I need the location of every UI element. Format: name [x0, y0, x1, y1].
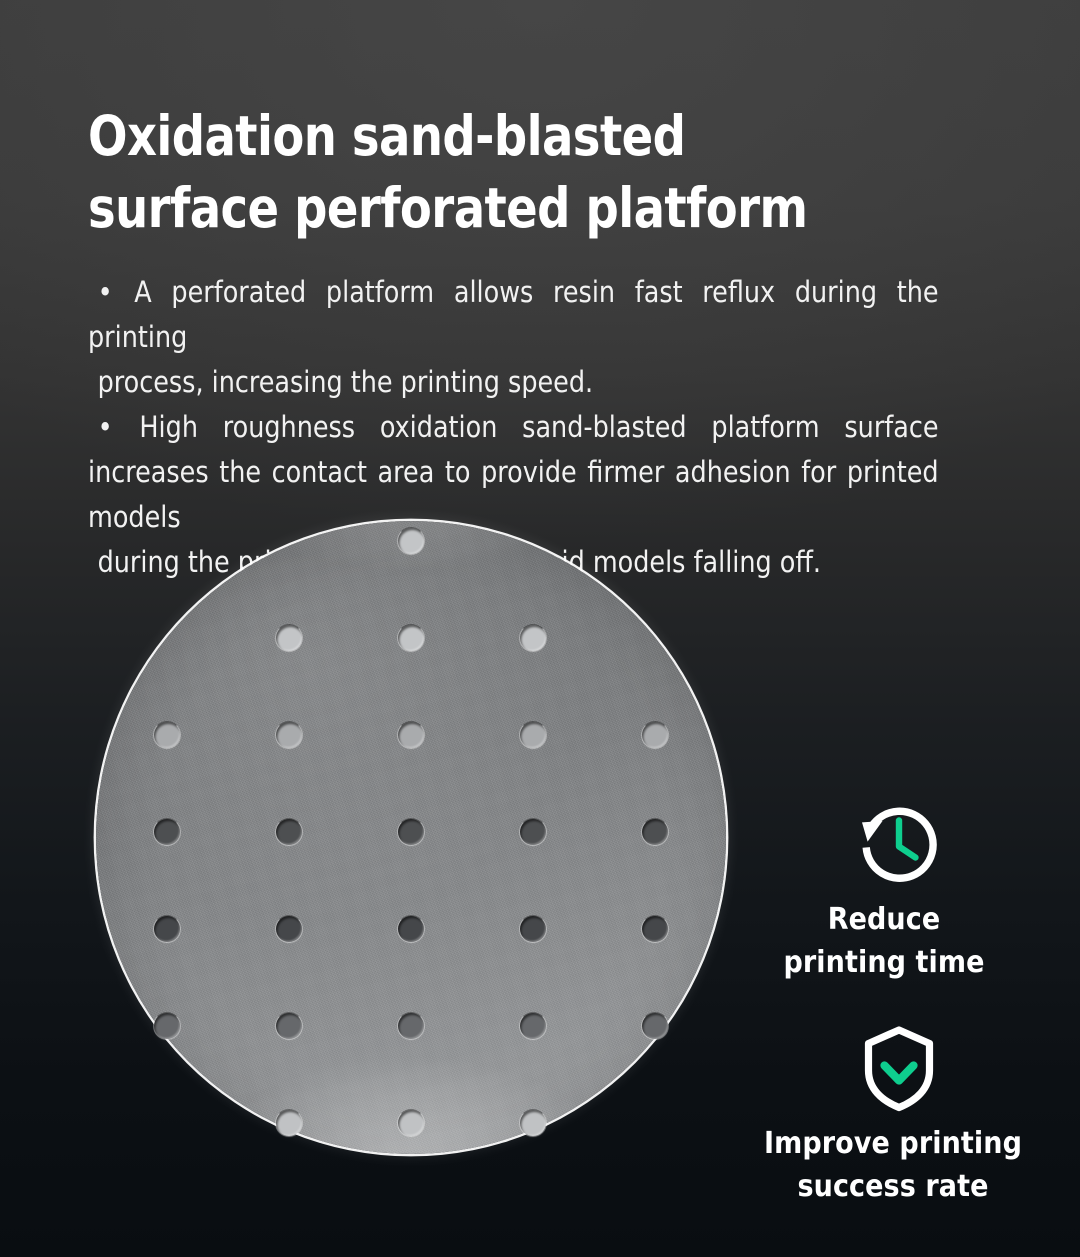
perforation-hole — [276, 916, 302, 942]
clock-rewind-icon — [851, 796, 947, 892]
feature-label: Improve printing success rate — [734, 1122, 1064, 1208]
hole-lip — [275, 624, 303, 652]
hole-lip — [397, 721, 425, 749]
hole-lip — [275, 915, 303, 943]
bullet-item-tail: process, increasing the printing speed. — [88, 360, 939, 405]
bullet-text-tail: process, increasing the printing speed. — [98, 365, 594, 399]
perforation-hole-grid — [96, 521, 726, 1154]
hole-lip — [519, 818, 547, 846]
perforation-hole — [276, 625, 302, 651]
feature-reduce-printing-time: Reduce printing time — [734, 796, 1064, 984]
perforation-hole — [398, 819, 424, 845]
perforation-hole — [398, 1013, 424, 1039]
page-title: Oxidation sand-blasted surface perforate… — [88, 100, 921, 244]
hole-lip — [641, 915, 669, 943]
perforation-hole — [642, 1013, 668, 1039]
copy-block: Oxidation sand-blasted surface perforate… — [88, 100, 974, 585]
perforation-hole — [276, 819, 302, 845]
perforation-hole — [520, 1110, 546, 1136]
perforation-hole — [642, 722, 668, 748]
hole-lip — [397, 818, 425, 846]
hole-lip — [397, 915, 425, 943]
bullet-text: High roughness oxidation sand-blasted pl… — [88, 410, 939, 534]
feature-label: Reduce printing time — [734, 898, 1064, 984]
perforation-hole — [154, 1013, 180, 1039]
bullet-marker: • — [98, 275, 115, 309]
hole-lip — [153, 1012, 181, 1040]
hole-lip — [275, 818, 303, 846]
hole-lip — [519, 1109, 547, 1137]
bullet-item: • A perforated platform allows resin fas… — [88, 270, 939, 360]
bullet-item: • High roughness oxidation sand-blasted … — [88, 405, 939, 540]
hole-lip — [641, 1012, 669, 1040]
perforation-hole — [154, 722, 180, 748]
feature-badges: Reduce printing time Improve printing su… — [734, 796, 1064, 1208]
perforation-hole — [520, 1013, 546, 1039]
shield-check-icon — [851, 1020, 947, 1116]
hole-lip — [519, 721, 547, 749]
perforation-hole — [520, 916, 546, 942]
hole-lip — [397, 1109, 425, 1137]
hole-lip — [641, 818, 669, 846]
perforation-hole — [154, 916, 180, 942]
perforation-hole — [398, 625, 424, 651]
bullet-text: A perforated platform allows resin fast … — [88, 275, 939, 354]
bullet-marker: • — [98, 410, 115, 444]
hole-lip — [519, 1012, 547, 1040]
perforation-hole — [520, 625, 546, 651]
hole-lip — [641, 721, 669, 749]
hole-lip — [275, 721, 303, 749]
perforation-hole — [154, 819, 180, 845]
perforation-hole — [276, 722, 302, 748]
hole-lip — [153, 818, 181, 846]
perforation-hole — [520, 722, 546, 748]
hole-lip — [275, 1109, 303, 1137]
hole-lip — [397, 527, 425, 555]
icon-row — [734, 796, 1064, 892]
hole-lip — [153, 721, 181, 749]
perforation-hole — [398, 722, 424, 748]
hole-lip — [397, 1012, 425, 1040]
hole-lip — [397, 624, 425, 652]
perforation-hole — [398, 916, 424, 942]
perforation-hole — [398, 528, 424, 554]
perforation-hole — [642, 819, 668, 845]
perforation-hole — [398, 1110, 424, 1136]
build-platform-image — [96, 521, 726, 1154]
icon-row — [734, 1020, 1064, 1116]
hole-lip — [519, 624, 547, 652]
feature-improve-success-rate: Improve printing success rate — [734, 1020, 1064, 1208]
hole-lip — [519, 915, 547, 943]
perforation-hole — [642, 916, 668, 942]
hole-lip — [275, 1012, 303, 1040]
perforation-hole — [276, 1013, 302, 1039]
hole-lip — [153, 915, 181, 943]
perforation-hole — [276, 1110, 302, 1136]
promo-page: Oxidation sand-blasted surface perforate… — [0, 0, 1080, 1257]
perforation-hole — [520, 819, 546, 845]
